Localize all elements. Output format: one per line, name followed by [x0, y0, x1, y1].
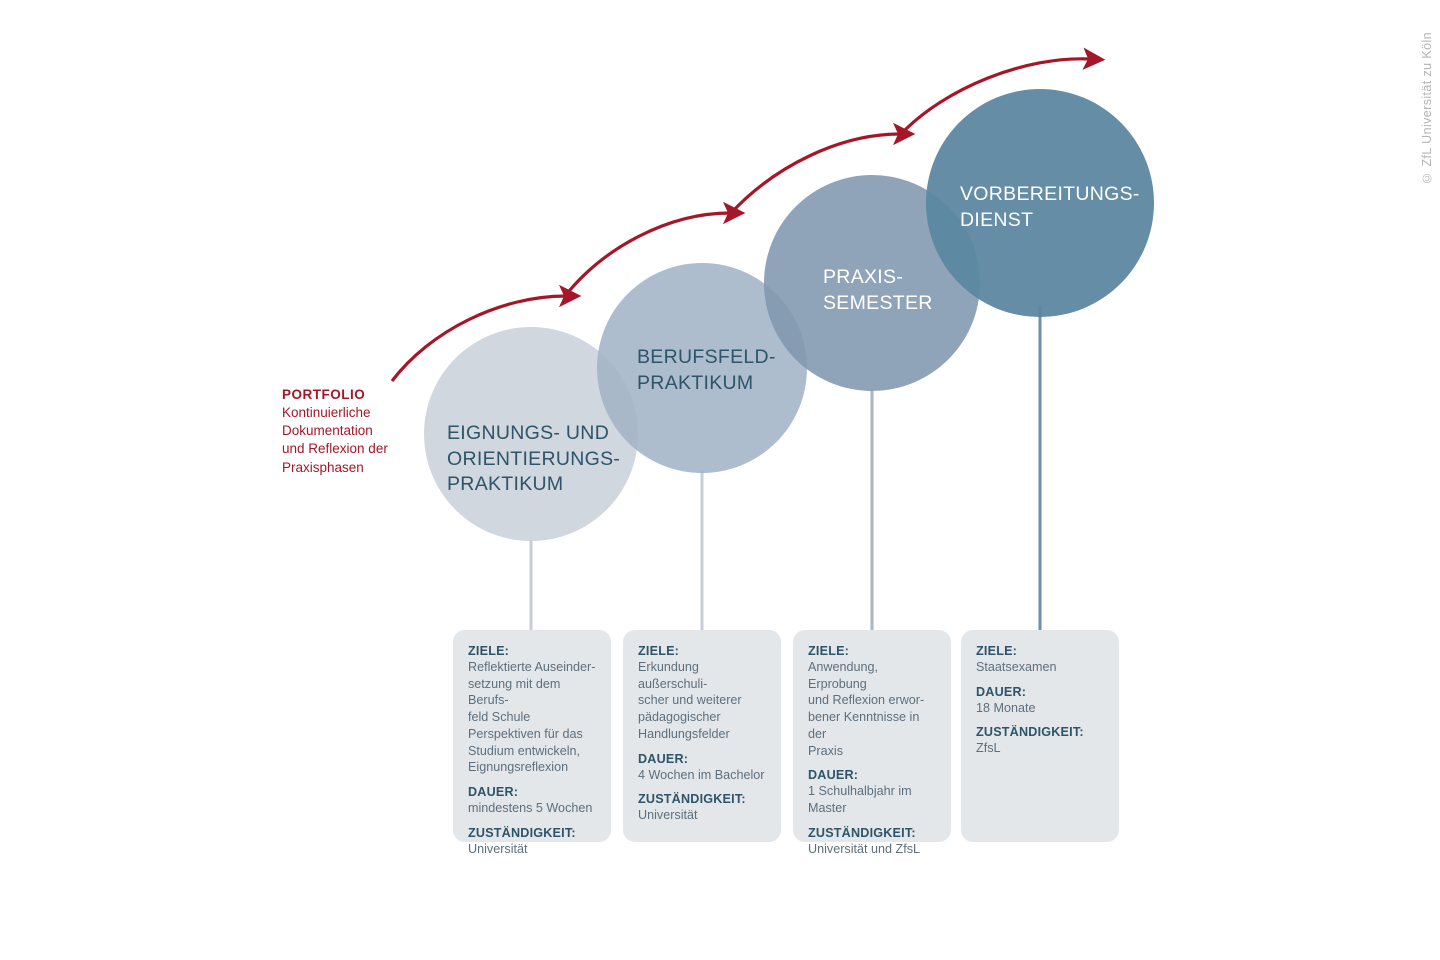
ziele-key: ZIELE: — [638, 644, 766, 658]
dauer-key: DAUER: — [638, 752, 766, 766]
dauer-value: mindestens 5 Wochen — [468, 800, 596, 817]
dauer-key: DAUER: — [468, 785, 596, 799]
zustaendigkeit-key: ZUSTÄNDIGKEIT: — [976, 725, 1104, 739]
zustaendigkeit-key: ZUSTÄNDIGKEIT: — [468, 826, 596, 840]
stage-info-card: ZIELE: Staatsexamen DAUER: 18 Monate ZUS… — [961, 630, 1119, 842]
infographic-canvas: EIGNUNGS- UND ORIENTIERUNGS- PRAKTIKUM B… — [0, 0, 1440, 960]
ziele-key: ZIELE: — [468, 644, 596, 658]
zustaendigkeit-value: Universität — [468, 841, 596, 858]
stage-info-card: ZIELE: Erkundung außerschuli- scher und … — [623, 630, 781, 842]
stage-circles — [424, 89, 1154, 541]
stage-info-card: ZIELE: Reflektierte Auseinder- setzung m… — [453, 630, 611, 842]
stage-info-card: ZIELE: Anwendung, Erprobung und Reflexio… — [793, 630, 951, 842]
dauer-key: DAUER: — [808, 768, 936, 782]
ziele-key: ZIELE: — [808, 644, 936, 658]
ziele-value: Reflektierte Auseinder- setzung mit dem … — [468, 659, 596, 776]
portfolio-body: Kontinuierliche Dokumentation und Reflex… — [282, 404, 402, 477]
dauer-value: 4 Wochen im Bachelor — [638, 767, 766, 784]
zustaendigkeit-value: Universität — [638, 807, 766, 824]
ziele-key: ZIELE: — [976, 644, 1104, 658]
dauer-key: DAUER: — [976, 685, 1104, 699]
ziele-value: Erkundung außerschuli- scher und weitere… — [638, 659, 766, 743]
portfolio-title: PORTFOLIO — [282, 387, 402, 402]
zustaendigkeit-key: ZUSTÄNDIGKEIT: — [638, 792, 766, 806]
dauer-value: 1 Schulhalbjahr im Master — [808, 783, 936, 816]
zustaendigkeit-value: Universität und ZfsL — [808, 841, 936, 858]
zustaendigkeit-key: ZUSTÄNDIGKEIT: — [808, 826, 936, 840]
portfolio-note: PORTFOLIO Kontinuierliche Dokumentation … — [282, 387, 402, 477]
ziele-value: Anwendung, Erprobung und Reflexion erwor… — [808, 659, 936, 759]
copyright-notice: © ZfL Universität zu Köln — [1420, 32, 1434, 185]
stage-circle-4 — [926, 89, 1154, 317]
ziele-value: Staatsexamen — [976, 659, 1104, 676]
dauer-value: 18 Monate — [976, 700, 1104, 717]
zustaendigkeit-value: ZfsL — [976, 740, 1104, 757]
